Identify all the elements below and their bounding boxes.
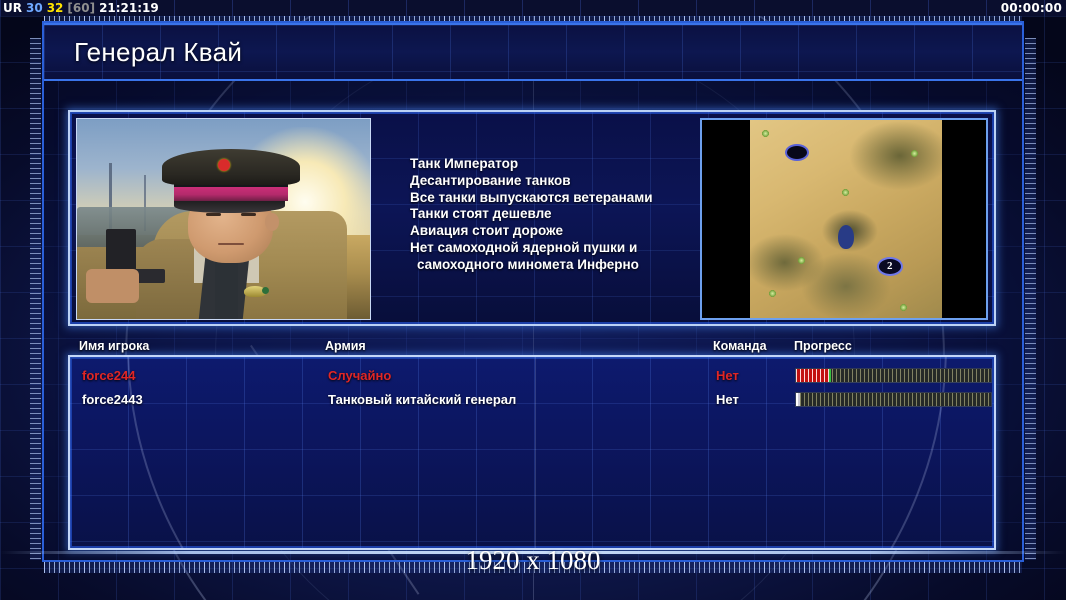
player-name[interactable]: force2443: [82, 392, 143, 407]
officer-cap-band: [174, 185, 288, 201]
table-row[interactable]: force2443 Танковый китайский генерал Нет: [70, 389, 994, 413]
map-lake: [838, 225, 854, 249]
description-line: Все танки выпускаются ветеранами: [410, 190, 790, 207]
progress-bar-track: [796, 393, 991, 406]
player-list-panel: force244 Случайно Нет force2443 Танковый…: [68, 355, 996, 550]
progress-bar-fill: [796, 369, 829, 382]
status-value-3: [60]: [67, 1, 95, 15]
column-header-progress: Прогресс: [794, 339, 852, 353]
map-supply-icon: [798, 257, 805, 264]
player-list-headers: Имя игрока Армия Команда Прогресс: [68, 339, 996, 356]
status-clock: 21:21:19: [99, 1, 159, 15]
page-title: Генерал Квай: [44, 37, 242, 68]
player-team[interactable]: Нет: [716, 392, 739, 407]
description-line: самоходного миномета Инферно: [410, 257, 790, 274]
player-progress-bar: [795, 368, 992, 383]
officer-cap-star-icon: [218, 159, 230, 171]
status-value-1: 30: [26, 1, 43, 15]
title-bar: Генерал Квай: [44, 23, 1022, 81]
officer-mouth: [218, 243, 244, 245]
officer-eye-right: [241, 213, 256, 216]
column-header-team: Команда: [713, 339, 767, 353]
map-player-start-2: 2: [877, 257, 903, 276]
description-line: Нет самоходной ядерной пушки и: [410, 240, 790, 257]
map-supply-icon: [842, 189, 849, 196]
description-line: Авиация стоит дороже: [410, 223, 790, 240]
officer-tie: [215, 255, 238, 319]
progress-bar-fill: [796, 393, 800, 406]
player-name[interactable]: force244: [82, 368, 135, 383]
top-status-bar: UR3032[60]21:21:19 00:00:00: [0, 0, 1066, 16]
general-portrait: [76, 118, 371, 320]
table-row[interactable]: force244 Случайно Нет: [70, 365, 994, 389]
map-supply-icon: [769, 290, 776, 297]
description-line: Десантирование танков: [410, 173, 790, 190]
column-header-name: Имя игрока: [79, 339, 149, 353]
player-team[interactable]: Нет: [716, 368, 739, 383]
officer-hand: [86, 269, 139, 303]
description-line: Танки стоят дешевле: [410, 206, 790, 223]
player-army[interactable]: Танковый китайский генерал: [328, 392, 516, 407]
progress-bar-marker: [829, 369, 831, 382]
map-supply-icon: [900, 304, 907, 311]
general-info-panel: Танк Император Десантирование танков Все…: [68, 110, 996, 326]
general-description: Танк Император Десантирование танков Все…: [410, 156, 790, 274]
status-value-2: 32: [47, 1, 64, 15]
player-progress-bar: [795, 392, 992, 407]
ruler-left: [30, 38, 41, 560]
status-label: UR: [3, 1, 22, 15]
officer-cap-crown: [162, 149, 300, 185]
status-bar-left-group: UR3032[60]21:21:19: [0, 1, 163, 15]
officer-eye-left: [206, 213, 221, 216]
resolution-watermark: 1920 x 1080: [0, 545, 1066, 576]
player-army[interactable]: Случайно: [328, 368, 391, 383]
officer-chest-badge-center: [262, 287, 269, 294]
officer-ear: [265, 213, 280, 231]
status-timer: 00:00:00: [1001, 1, 1062, 15]
officer-cap-brim: [174, 199, 285, 213]
map-supply-icon: [762, 130, 769, 137]
column-header-army: Армия: [325, 339, 366, 353]
ruler-right: [1025, 38, 1036, 560]
map-supply-icon: [911, 150, 918, 157]
description-line: Танк Император: [410, 156, 790, 173]
